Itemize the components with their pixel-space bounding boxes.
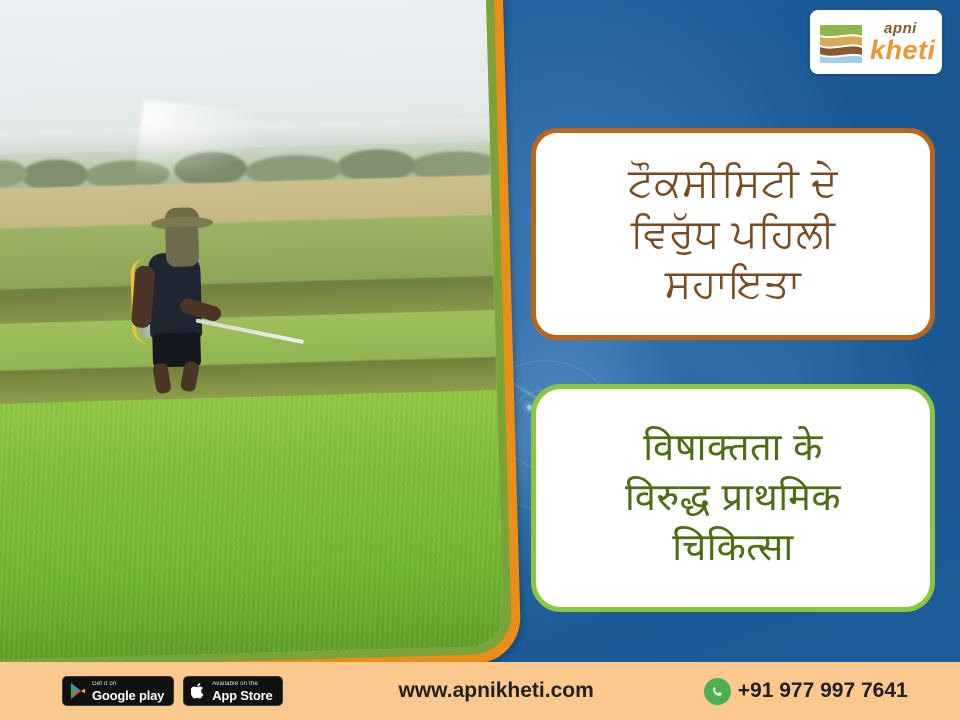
hindi-line-1: विषाक्तता के bbox=[643, 423, 823, 473]
app-store-badge-text: Available on the App Store bbox=[212, 681, 272, 702]
google-play-badge-text: Get it on Google play bbox=[92, 681, 164, 702]
logo-word-apni: apni bbox=[884, 21, 936, 36]
spray-mist bbox=[135, 99, 263, 190]
poster: apni kheti ਟੌਕਸੀਸਿਟੀ ਦੇ ਵਿਰੁੱਧ ਪਹਿਲੀ ਸਹਾ… bbox=[0, 0, 960, 720]
photo-inner-border bbox=[0, 0, 512, 668]
app-store-badge[interactable]: Available on the App Store bbox=[183, 676, 282, 706]
farmer-figure bbox=[123, 204, 268, 393]
hindi-line-2: विरुद्ध प्राथमिक bbox=[625, 473, 841, 523]
google-play-badge[interactable]: Get it on Google play bbox=[62, 676, 174, 706]
website-url[interactable]: www.apnikheti.com bbox=[399, 679, 594, 703]
photo-panel bbox=[0, 0, 522, 677]
app-store-badges: Get it on Google play Available on the A… bbox=[62, 676, 283, 706]
punjabi-line-2: ਵਿਰੁੱਧ ਪਹਿਲੀ bbox=[631, 209, 836, 259]
headline-box-punjabi: ਟੌਕਸੀਸਿਟੀ ਦੇ ਵਿਰੁੱਧ ਪਹਿਲੀ ਸਹਾਇਤਾ bbox=[531, 128, 935, 340]
farmer-face-cloth bbox=[165, 226, 199, 267]
logo-mark-icon bbox=[818, 19, 864, 65]
logo-word-kheti: kheti bbox=[870, 37, 936, 64]
field-photo bbox=[0, 0, 504, 660]
footer-bar: Get it on Google play Available on the A… bbox=[0, 662, 960, 720]
hindi-line-3: चिकित्सा bbox=[672, 523, 793, 573]
google-play-small-label: Get it on bbox=[92, 681, 164, 687]
google-play-large-label: Google play bbox=[92, 689, 164, 702]
whatsapp-icon bbox=[704, 678, 731, 705]
app-store-small-label: Available on the bbox=[212, 681, 272, 687]
phone-number: +91 977 997 7641 bbox=[738, 679, 908, 703]
google-play-icon bbox=[70, 682, 86, 700]
apni-kheti-logo[interactable]: apni kheti bbox=[810, 10, 942, 74]
punjabi-line-1: ਟੌਕਸੀਸਿਟੀ ਦੇ bbox=[628, 158, 838, 208]
app-store-large-label: App Store bbox=[212, 689, 272, 702]
punjabi-line-3: ਸਹਾਇਤਾ bbox=[665, 259, 801, 309]
logo-wordmark: apni kheti bbox=[870, 21, 936, 64]
paddy-crop bbox=[0, 390, 504, 660]
phone-contact[interactable]: +91 977 997 7641 bbox=[704, 678, 908, 705]
headline-box-hindi: विषाक्तता के विरुद्ध प्राथमिक चिकित्सा bbox=[531, 384, 935, 612]
apple-icon bbox=[191, 682, 206, 700]
